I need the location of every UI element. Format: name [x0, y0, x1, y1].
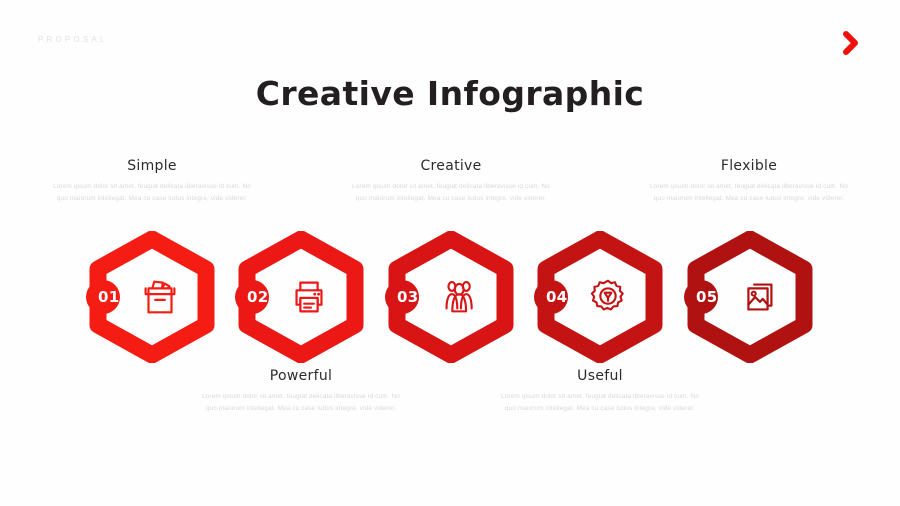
step-body-1: Lorem ipsum dolor sit amet, feugiat deli… — [52, 181, 252, 206]
step-title-4: Useful — [500, 368, 700, 384]
step-body-3: Lorem ipsum dolor sit amet, feugiat deli… — [351, 181, 551, 206]
page-title: Creative Infographic — [0, 74, 900, 113]
step-label-2: Powerful Lorem ipsum dolor sit amet, feu… — [201, 368, 401, 416]
step-label-3: Creative Lorem ipsum dolor sit amet, feu… — [351, 158, 551, 206]
hex-step-3[interactable]: 03 — [383, 231, 519, 363]
file-box-icon — [137, 274, 183, 320]
gear-settings-icon — [585, 274, 631, 320]
step-title-1: Simple — [52, 158, 252, 174]
step-label-5: Flexible Lorem ipsum dolor sit amet, feu… — [649, 158, 849, 206]
step-label-1: Simple Lorem ipsum dolor sit amet, feugi… — [52, 158, 252, 206]
hex-step-2[interactable]: 02 — [233, 231, 369, 363]
step-title-3: Creative — [351, 158, 551, 174]
step-body-5: Lorem ipsum dolor sit amet, feugiat deli… — [649, 181, 849, 206]
chevron-right-icon[interactable] — [840, 30, 862, 56]
hex-step-4[interactable]: 04 — [532, 231, 668, 363]
step-body-4: Lorem ipsum dolor sit amet, feugiat deli… — [500, 391, 700, 416]
hex-step-5[interactable]: 05 — [682, 231, 818, 363]
hex-step-1[interactable]: 01 — [84, 231, 220, 363]
users-group-icon — [436, 274, 482, 320]
photos-gallery-icon — [735, 274, 781, 320]
printer-icon — [286, 274, 332, 320]
step-label-4: Useful Lorem ipsum dolor sit amet, feugi… — [500, 368, 700, 416]
kicker-label: PROPOSAL — [38, 35, 108, 44]
step-body-2: Lorem ipsum dolor sit amet, feugiat deli… — [201, 391, 401, 416]
step-title-5: Flexible — [649, 158, 849, 174]
step-title-2: Powerful — [201, 368, 401, 384]
slide-canvas: PROPOSAL Creative Infographic Simple Lor… — [0, 0, 900, 506]
